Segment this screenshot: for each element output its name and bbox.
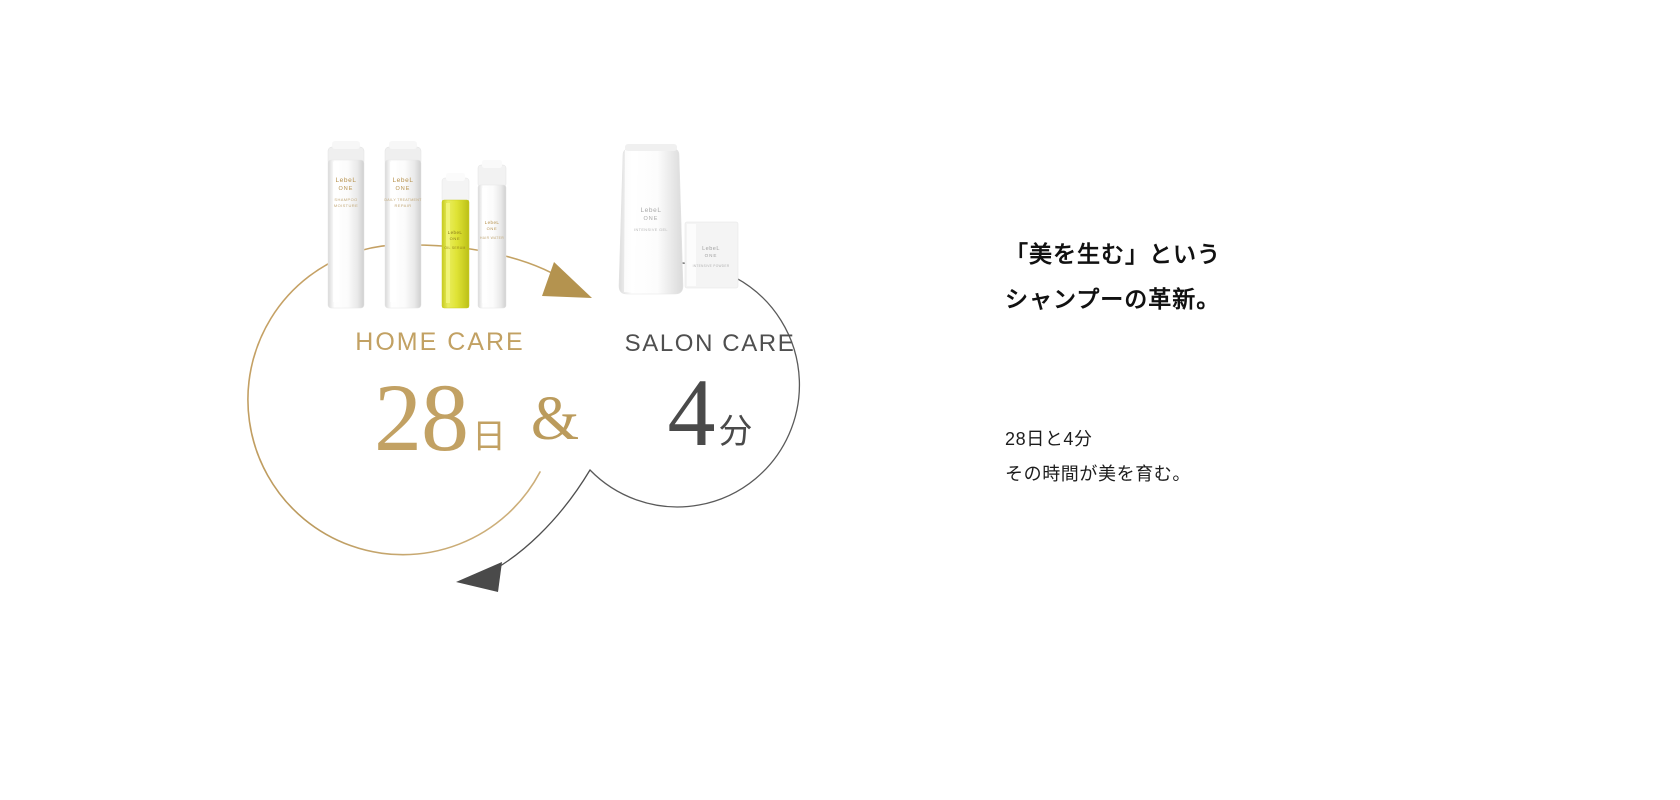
svg-text:INTENSIVE GEL: INTENSIVE GEL: [634, 228, 668, 232]
svg-text:OIL SERUM: OIL SERUM: [444, 246, 465, 250]
svg-text:LebeL: LebeL: [485, 220, 500, 225]
home-care-label: HOME CARE: [300, 328, 580, 357]
care-cycle-diagram: LebeL ONE SHAMPOO MOISTURE LebeL ONE DAI…: [220, 100, 900, 640]
svg-text:LebeL: LebeL: [448, 230, 463, 235]
product-powder-sachet: LebeL ONE INTENSIVE POWDER: [685, 222, 738, 288]
headline-line-1: 「美を生む」という: [1005, 232, 1425, 277]
svg-text:ONE: ONE: [339, 186, 354, 192]
home-care-products: LebeL ONE SHAMPOO MOISTURE LebeL ONE DAI…: [328, 141, 506, 308]
subcopy-line-2: その時間が美を育む。: [1005, 457, 1425, 492]
page-root: LebeL ONE SHAMPOO MOISTURE LebeL ONE DAI…: [0, 0, 1680, 800]
svg-text:ONE: ONE: [644, 216, 659, 222]
svg-text:LebeL: LebeL: [640, 207, 661, 214]
svg-text:ONE: ONE: [487, 226, 498, 231]
svg-text:REPAIR: REPAIR: [395, 203, 412, 208]
subcopy: 28日と4分 その時間が美を育む。: [1005, 422, 1425, 492]
svg-text:LebeL: LebeL: [335, 177, 356, 184]
salon-care-unit: 分: [719, 415, 753, 449]
svg-text:LebeL: LebeL: [392, 177, 413, 184]
svg-text:LebeL: LebeL: [702, 246, 720, 252]
salon-care-number: 4: [668, 365, 715, 461]
salon-care-figure: 4 分: [570, 365, 850, 461]
svg-text:ONE: ONE: [396, 186, 411, 192]
home-care-unit: 日: [472, 420, 506, 454]
svg-text:MOISTURE: MOISTURE: [334, 203, 358, 208]
svg-text:ONE: ONE: [450, 236, 461, 241]
salon-to-home-arrow: [456, 562, 502, 592]
headline-copy: 「美を生む」という シャンプーの革新。: [1005, 232, 1425, 322]
product-treatment-bottle: LebeL ONE DAILY TREATMENT REPAIR: [384, 141, 422, 308]
subcopy-line-1: 28日と4分: [1005, 422, 1425, 457]
salon-care-products: LebeL ONE INTENSIVE GEL LebeL ONE INTENS…: [619, 144, 738, 294]
product-hair-oil-bottle: LebeL ONE OIL SERUM: [442, 173, 469, 308]
product-mist-bottle: LebeL ONE HAIR WATER: [478, 160, 506, 308]
svg-text:SHAMPOO: SHAMPOO: [334, 197, 357, 202]
svg-text:HAIR WATER: HAIR WATER: [480, 236, 504, 240]
svg-text:INTENSIVE POWDER: INTENSIVE POWDER: [693, 264, 730, 268]
product-treatment-tube: LebeL ONE INTENSIVE GEL: [619, 144, 683, 294]
svg-text:ONE: ONE: [705, 253, 718, 258]
home-care-number: 28: [374, 370, 468, 466]
product-shampoo-bottle: LebeL ONE SHAMPOO MOISTURE: [328, 141, 364, 308]
headline-line-2: シャンプーの革新。: [1005, 277, 1425, 322]
svg-text:DAILY TREATMENT: DAILY TREATMENT: [384, 198, 422, 202]
home-to-salon-arrow: [542, 262, 592, 298]
salon-care-label: SALON CARE: [570, 330, 850, 358]
